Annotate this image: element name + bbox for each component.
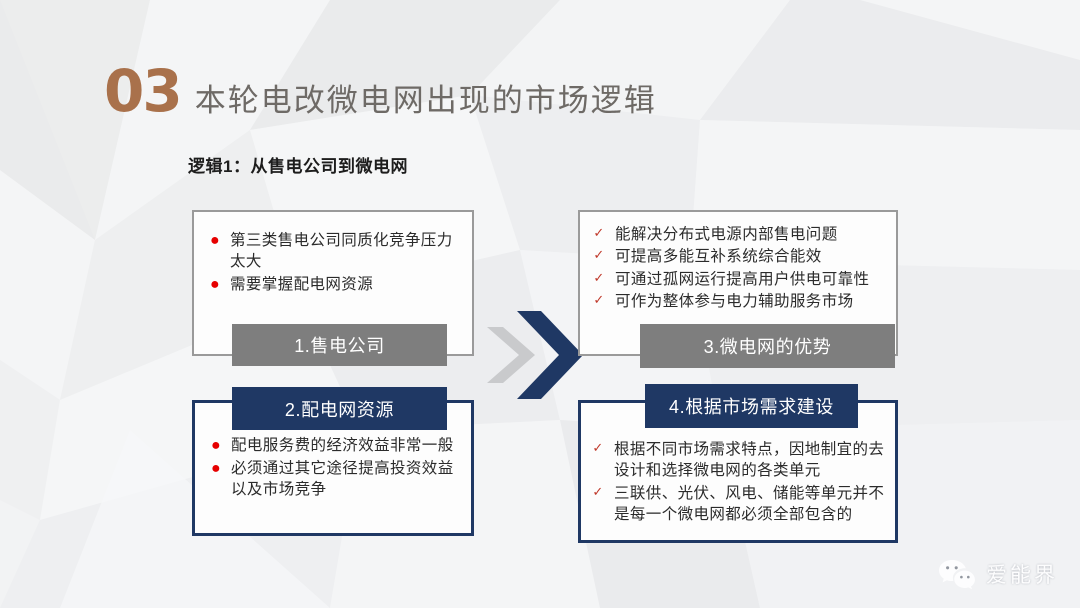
- list-item: ✓ 可作为整体参与电力辅助服务市场: [592, 291, 886, 312]
- label-bar-text: 4.根据市场需求建设: [669, 393, 834, 419]
- watermark-text: 爱能界: [986, 559, 1058, 589]
- label-bar-sales-company[interactable]: 1.售电公司: [232, 324, 447, 366]
- list-item-label: 第三类售电公司同质化竞争压力太大: [230, 230, 458, 273]
- list-item-label: 可作为整体参与电力辅助服务市场: [615, 291, 886, 312]
- wechat-icon: [937, 558, 977, 590]
- label-bar-text: 2.配电网资源: [285, 396, 394, 422]
- list-item-label: 可通过孤网运行提高用户供电可靠性: [615, 269, 886, 290]
- list-item-label: 三联供、光伏、风电、储能等单元并不是每一个微电网都必须全部包含的: [614, 483, 885, 526]
- slide-header: 03 本轮电改微电网出现的市场逻辑: [104, 62, 657, 120]
- list-item: ● 必须通过其它途径提高投资效益以及市场竞争: [209, 458, 457, 501]
- slide-subtitle: 逻辑1：从售电公司到微电网: [188, 152, 408, 177]
- label-bar-market-demand[interactable]: 4.根据市场需求建设: [645, 384, 858, 428]
- list-item-label: 需要掌握配电网资源: [230, 274, 458, 295]
- watermark: 爱能界: [937, 558, 1058, 590]
- check-icon: ✓: [592, 224, 606, 243]
- list-item-label: 可提高多能互补系统综合能效: [615, 246, 886, 267]
- bullet-dot-icon: ●: [209, 458, 223, 480]
- list-item: ✓ 可通过孤网运行提高用户供电可靠性: [592, 269, 886, 290]
- bullet-dot-icon: ●: [208, 230, 222, 252]
- flow-arrow: [485, 305, 585, 405]
- label-bar-text: 1.售电公司: [294, 332, 385, 358]
- label-bar-distribution-network[interactable]: 2.配电网资源: [232, 387, 447, 430]
- list-item: ● 第三类售电公司同质化竞争压力太大: [208, 230, 458, 273]
- label-bar-microgrid-advantages[interactable]: 3.微电网的优势: [640, 324, 895, 368]
- check-icon: ✓: [592, 269, 606, 288]
- list-item: ● 配电服务费的经济效益非常一般: [209, 435, 457, 457]
- bullet-dot-icon: ●: [209, 435, 223, 457]
- list-item-label: 必须通过其它途径提高投资效益以及市场竞争: [231, 458, 457, 501]
- check-icon: ✓: [592, 291, 606, 310]
- list-item: ✓ 三联供、光伏、风电、储能等单元并不是每一个微电网都必须全部包含的: [591, 483, 885, 526]
- label-bar-text: 3.微电网的优势: [704, 333, 832, 359]
- list-item: ✓ 能解决分布式电源内部售电问题: [592, 224, 886, 245]
- list-item-label: 配电服务费的经济效益非常一般: [231, 435, 457, 456]
- double-chevron-right-icon: [485, 305, 585, 405]
- list-item-label: 能解决分布式电源内部售电问题: [615, 224, 886, 245]
- bullet-list-microgrid-advantages: ✓ 能解决分布式电源内部售电问题 ✓ 可提高多能互补系统综合能效 ✓ 可通过孤网…: [580, 212, 896, 313]
- bullet-dot-icon: ●: [208, 274, 222, 296]
- page-title: 本轮电改微电网出现的市场逻辑: [195, 86, 657, 117]
- check-icon: ✓: [591, 439, 605, 458]
- list-item-label: 根据不同市场需求特点，因地制宜的去设计和选择微电网的各类单元: [614, 439, 885, 482]
- check-icon: ✓: [591, 483, 605, 502]
- bullet-list-sales-company: ● 第三类售电公司同质化竞争压力太大 ● 需要掌握配电网资源: [194, 212, 472, 296]
- list-item: ✓ 可提高多能互补系统综合能效: [592, 246, 886, 267]
- slide-canvas: 03 本轮电改微电网出现的市场逻辑 逻辑1：从售电公司到微电网 ● 第三类售电公…: [0, 0, 1080, 608]
- section-number: 03: [104, 62, 181, 120]
- check-icon: ✓: [592, 246, 606, 265]
- list-item: ✓ 根据不同市场需求特点，因地制宜的去设计和选择微电网的各类单元: [591, 439, 885, 482]
- list-item: ● 需要掌握配电网资源: [208, 274, 458, 296]
